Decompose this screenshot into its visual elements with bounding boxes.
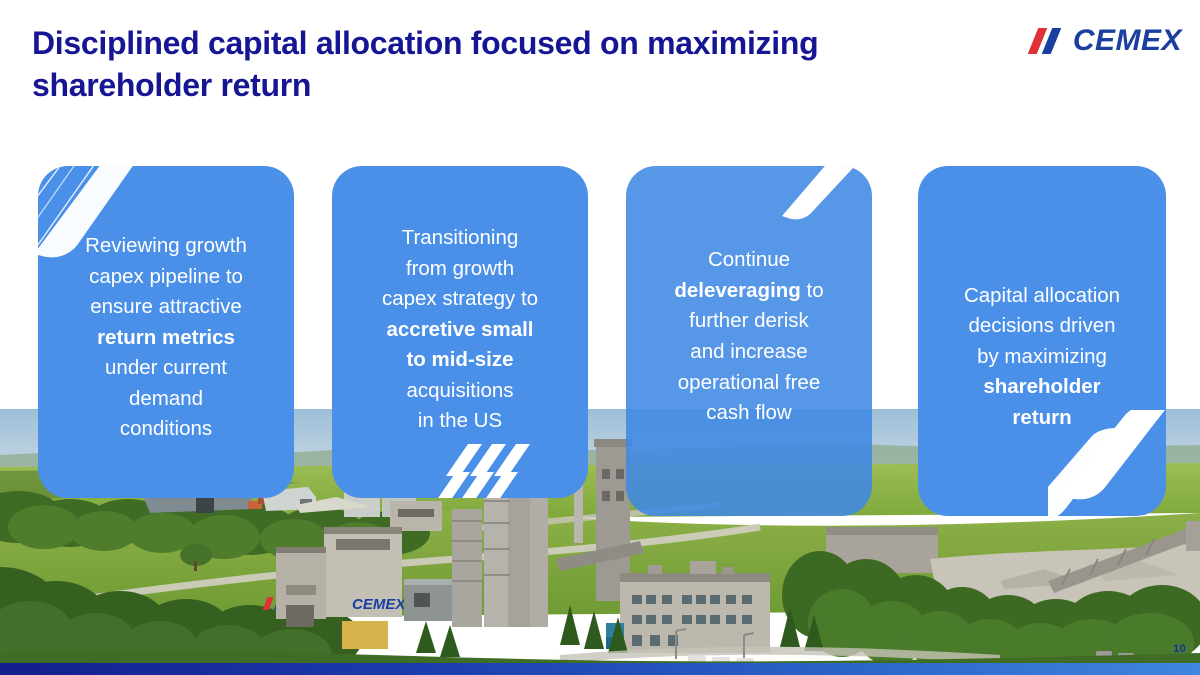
slide-canvas: CEMEX [0, 0, 1200, 675]
card-line: Continue [708, 248, 790, 271]
card-line: further derisk [689, 309, 809, 332]
card-line: in the US [418, 409, 502, 432]
card-line: capex pipeline to [89, 265, 243, 288]
card-line-emphasis: accretive small [386, 318, 533, 341]
bottom-accent-bar [0, 663, 1200, 675]
page-title: Disciplined capital allocation focused o… [32, 22, 992, 106]
card-shareholder-return[interactable]: Capital allocation decisions driven by m… [918, 166, 1166, 516]
single-slash-top-right-icon [782, 166, 872, 232]
card-line: and increase [690, 340, 807, 363]
svg-text:CEMEX: CEMEX [352, 596, 406, 613]
card-line: demand [129, 387, 203, 410]
card-line: by maximizing [977, 345, 1107, 368]
logo-slashes-icon [1031, 28, 1071, 54]
card-line: conditions [120, 417, 212, 440]
card-line-emphasis: to mid-size [406, 348, 513, 371]
card-growth-capex-review[interactable]: Reviewing growth capex pipeline to ensur… [38, 166, 294, 498]
card-line-emphasis: return [1012, 406, 1071, 429]
card-line: Capital allocation [964, 284, 1120, 307]
card-line: Transitioning [402, 226, 519, 249]
card-line-suffix: to [801, 279, 824, 302]
card-line: from growth [406, 257, 514, 280]
card-deleveraging[interactable]: Continue deleveraging to further derisk … [626, 166, 872, 516]
card-text: Continue deleveraging to further derisk … [626, 245, 872, 428]
card-text: Capital allocation decisions driven by m… [918, 281, 1166, 434]
card-text: Reviewing growth capex pipeline to ensur… [38, 231, 294, 445]
card-line: under current [105, 356, 227, 379]
card-line: cash flow [706, 401, 791, 424]
card-line-emphasis: deleveraging [674, 279, 800, 302]
card-text: Transitioning from growth capex strategy… [332, 223, 588, 437]
card-line: decisions driven [969, 314, 1116, 337]
card-line: Reviewing growth [85, 234, 247, 257]
logo-wordmark: CEMEX [1073, 26, 1182, 56]
card-line: ensure attractive [90, 295, 242, 318]
card-line: operational free [678, 371, 820, 394]
page-number: 10 [1173, 643, 1186, 655]
triple-slash-bottom-icon [438, 442, 558, 498]
card-line: capex strategy to [382, 287, 538, 310]
card-line-emphasis: shareholder [983, 375, 1100, 398]
card-transition-to-acquisitions[interactable]: Transitioning from growth capex strategy… [332, 166, 588, 498]
cemex-logo: CEMEX [1031, 24, 1182, 58]
card-line-emphasis: return metrics [97, 326, 235, 349]
card-line: acquisitions [406, 379, 513, 402]
